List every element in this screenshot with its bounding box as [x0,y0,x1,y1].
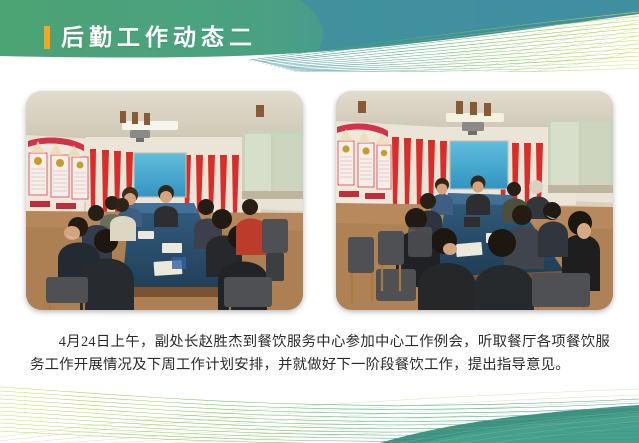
meeting-photo-right [336,91,613,310]
meeting-photo-left-image [26,91,303,310]
footer-ribbon [0,381,639,443]
footer-decoration [0,381,639,443]
title-accent-bar [44,26,50,49]
slide: 后勤工作动态二 [0,0,639,443]
header-banner: 后勤工作动态二 [0,0,639,72]
caption-paragraph: 4月24日上午，副处长赵胜杰到餐饮服务中心参加中心工作例会，听取餐厅各项餐饮服务… [30,331,610,377]
title-text: 后勤工作动态二 [61,25,257,49]
meeting-photo-left [26,91,303,310]
page-title: 后勤工作动态二 [44,24,257,50]
caption-block: 4月24日上午，副处长赵胜杰到餐饮服务中心参加中心工作例会，听取餐厅各项餐饮服务… [30,331,610,377]
meeting-photo-right-image [336,91,613,310]
